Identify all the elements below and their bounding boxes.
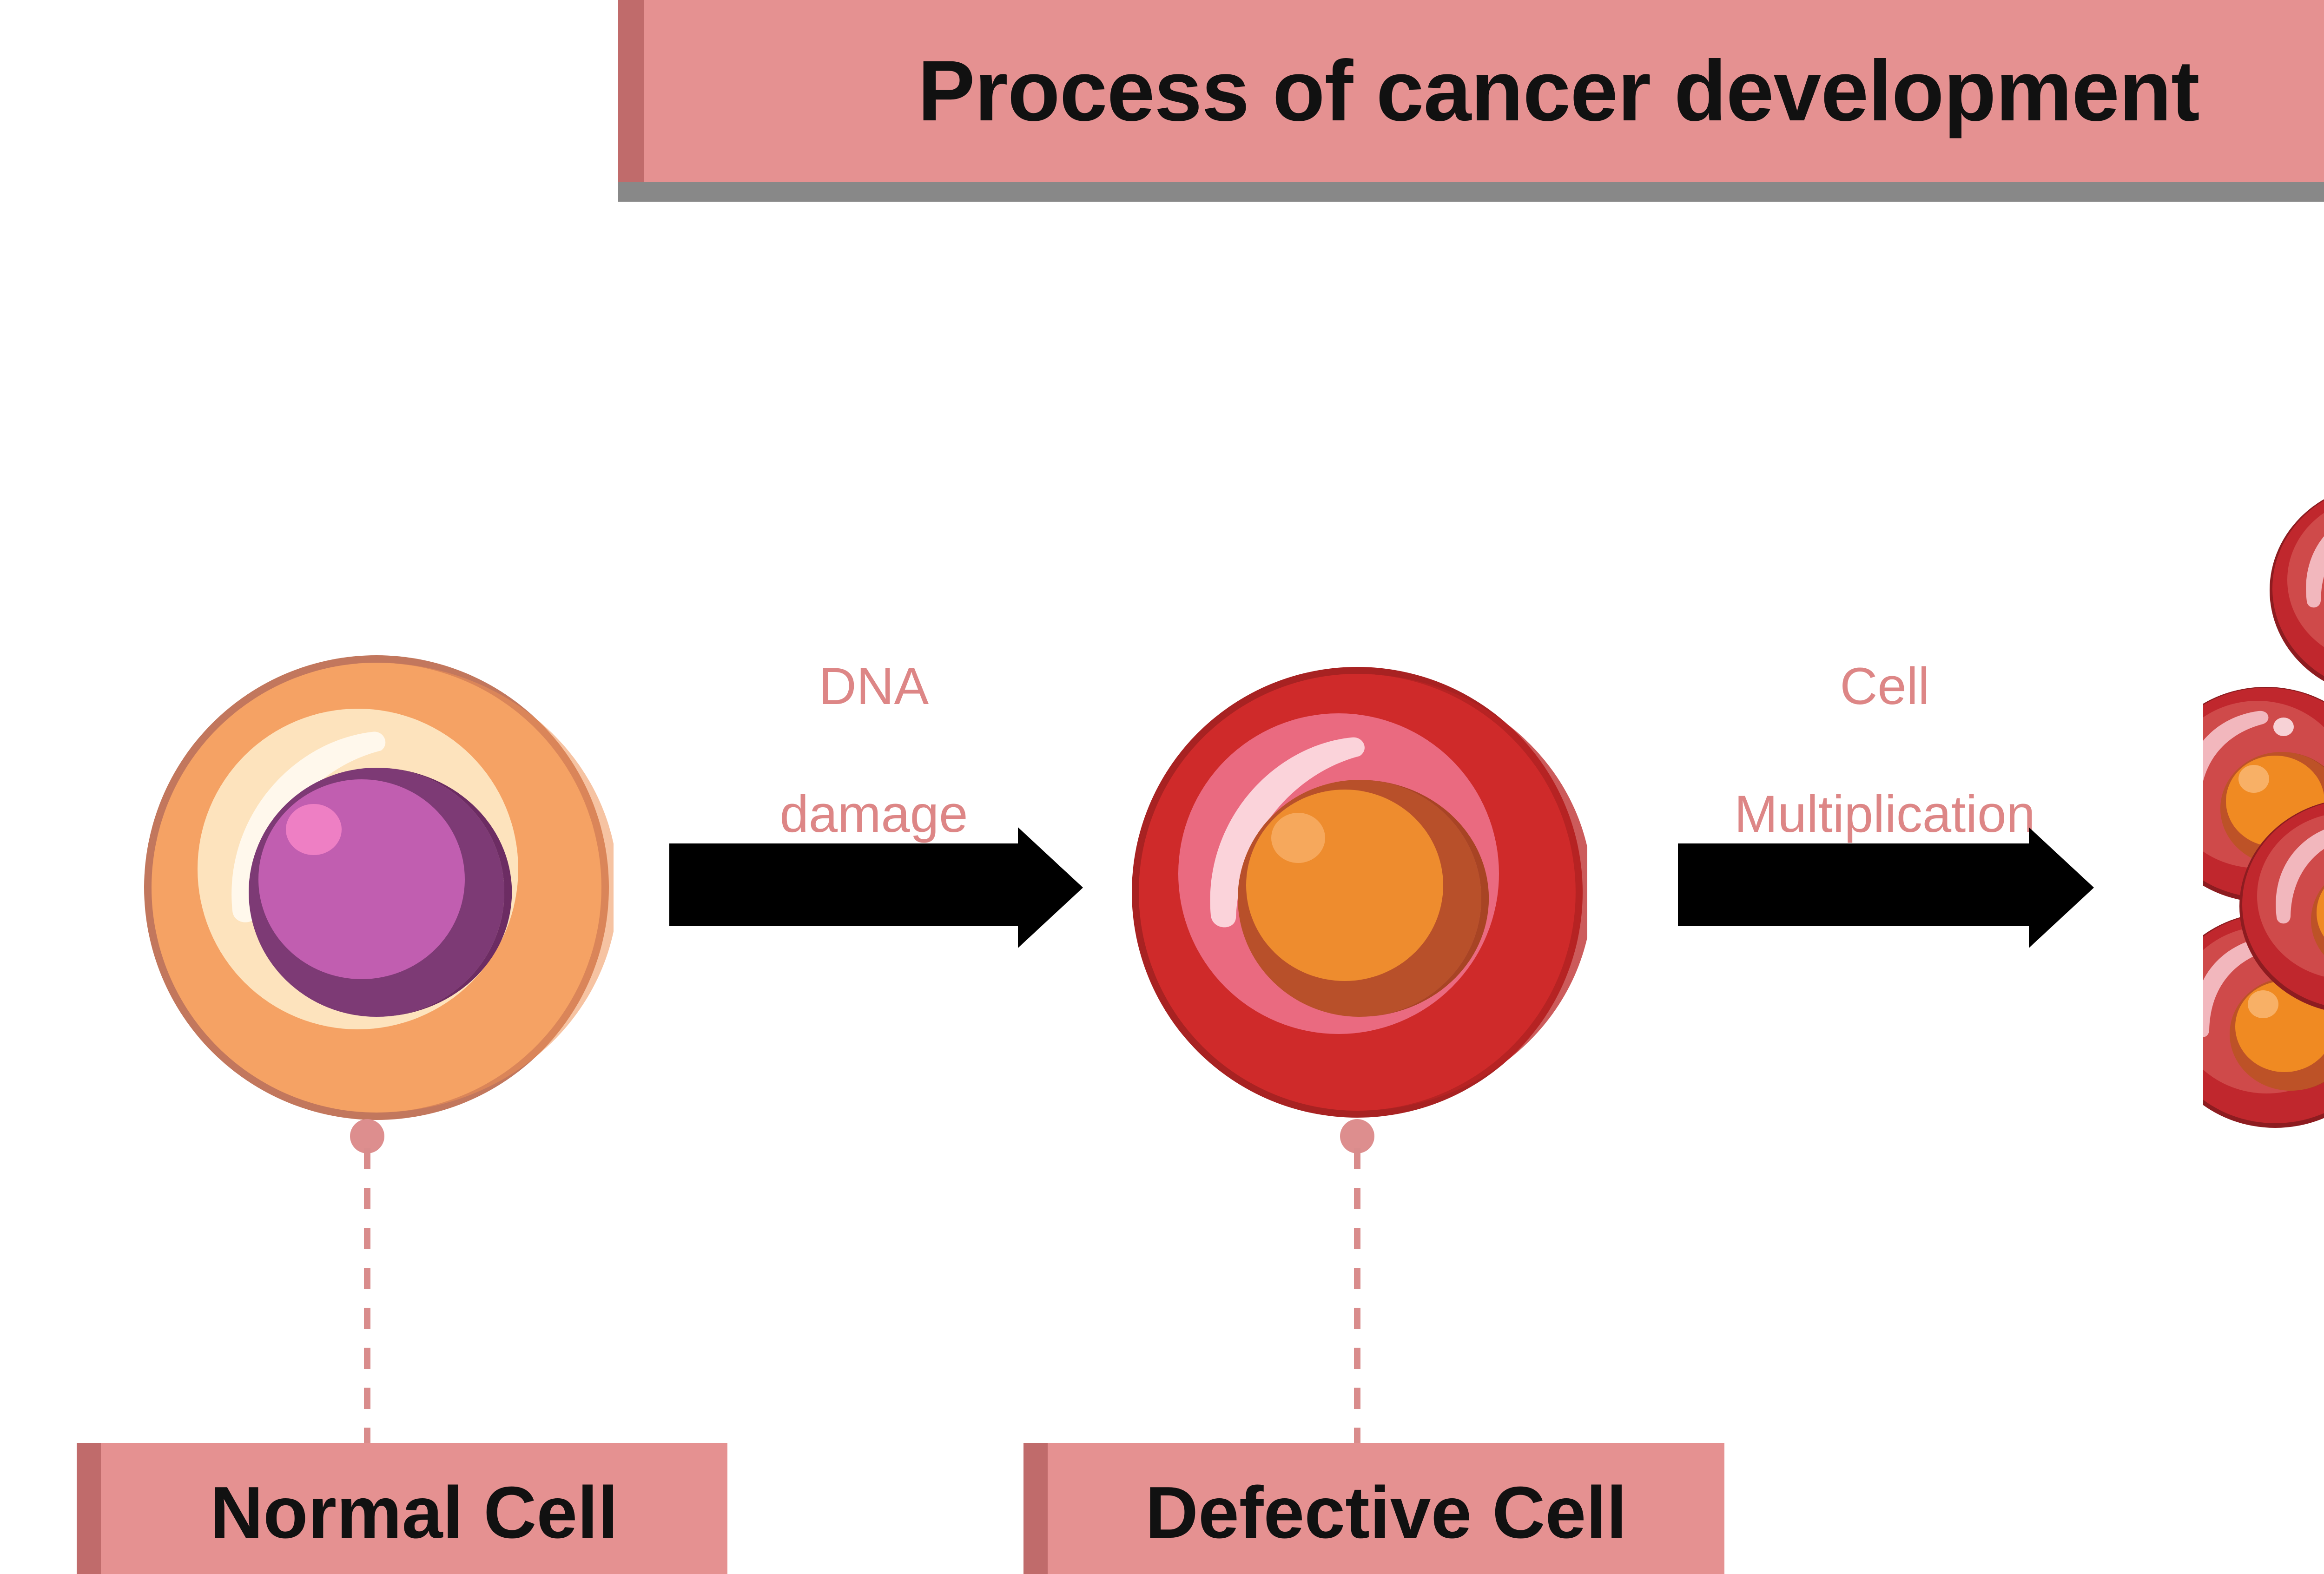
cancer-cell (2270, 482, 2324, 698)
arrow-head (1018, 827, 1083, 948)
transition-label-line1: DNA (819, 657, 929, 715)
title-banner-accent-strip (618, 0, 644, 182)
arrow-dna-damage (669, 827, 1083, 948)
stage-label-normal-cell: Normal Cell (77, 1443, 727, 1574)
normal-cell-connector-line (364, 1148, 370, 1445)
transition-label-cell-multiplication: Cell Multiplication (1608, 590, 2161, 846)
stage-label-text: Normal Cell (101, 1443, 727, 1574)
transition-label-line1: Cell (1840, 657, 1930, 715)
stage-label-defective-cell: Defective Cell (1023, 1443, 1724, 1574)
normal-cell-nucleolus (286, 804, 342, 855)
defective-cell-nucleus (1246, 790, 1443, 981)
arrow-head (2029, 827, 2094, 948)
stage-label-text: Defective Cell (1048, 1443, 1724, 1574)
arrow-shaft (669, 843, 1020, 926)
stage-label-accent-strip (77, 1443, 101, 1574)
normal-cell-nucleus (258, 779, 465, 979)
transition-label-dna-damage: DNA damage (688, 590, 1060, 846)
title-banner: Process of cancer development (618, 0, 2324, 182)
cancer-cell-cluster-illustration (2203, 376, 2324, 1343)
page-title: Process of cancer development (644, 0, 2324, 182)
normal-cell-illustration (139, 651, 614, 1125)
arrow-cell-multiplication (1678, 827, 2092, 948)
arrow-shaft (1678, 843, 2031, 926)
stage-label-accent-strip (1023, 1443, 1048, 1574)
diagram-canvas: Process of cancer development DNA damage (0, 0, 2324, 1574)
defective-cell-nucleolus (1271, 813, 1325, 863)
defective-cell-illustration (1127, 662, 1587, 1122)
title-banner-shadow (618, 182, 2324, 202)
defective-cell-connector-line (1354, 1148, 1360, 1445)
